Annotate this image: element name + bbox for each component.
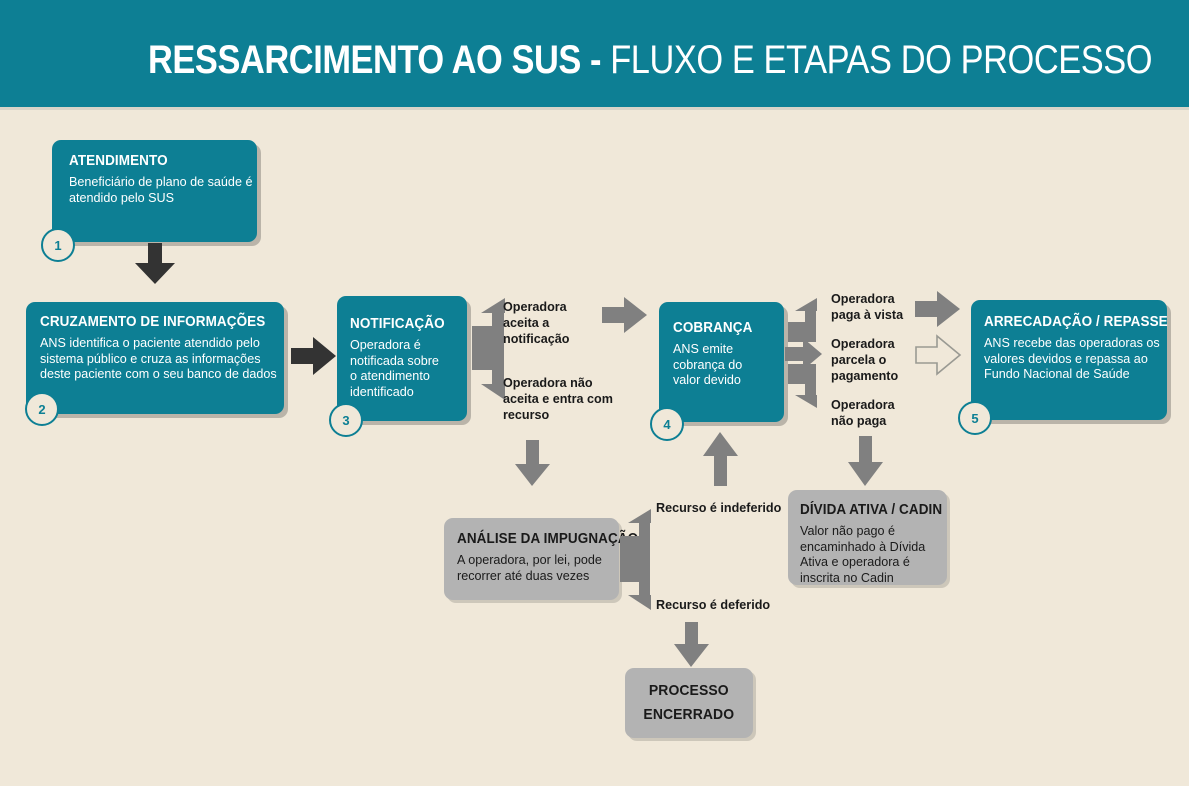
divida-body: Valor não pago é encaminhado à Dívida At… [800,524,947,586]
page-title: RESSARCIMENTO AO SUS - FLUXO E ETAPAS DO… [148,38,1152,82]
step-badge-4: 4 [650,407,684,441]
analise-body-line: recorrer até duas vezes [457,569,619,585]
step-badge-2: 2 [25,392,59,426]
step-3-body-line: notificada sobre [350,354,467,370]
step-4-title: COBRANÇA [673,320,776,337]
divida-title: DÍVIDA ATIVA / CADIN [800,502,937,519]
step-4-body: ANS emite cobrança do valor devido [673,342,784,389]
end-card-processo-encerrado[interactable]: PROCESSO ENCERRADO [625,668,753,738]
step-4-body-line: ANS emite [673,342,784,358]
step-3-body-line: o atendimento [350,369,467,385]
arrow-deferido-to-encerrado [672,622,712,668]
step-2-body-line: ANS identifica o paciente atendido pelo [40,336,284,352]
arrow-aceita-to-cobranca [602,296,650,334]
arrow-cobranca-branch-down [785,362,825,408]
page-title-light: FLUXO E ETAPAS DO PROCESSO [601,38,1152,82]
page-header: RESSARCIMENTO AO SUS - FLUXO E ETAPAS DO… [0,0,1189,110]
divida-body-line: Valor não pago é [800,524,947,540]
analise-body-line: A operadora, por lei, pode [457,553,619,569]
step-1-title: ATENDIMENTO [69,153,244,170]
arrow-naopaga-to-divida [846,436,886,488]
page-title-bold: RESSARCIMENTO AO SUS - [148,38,601,82]
step-badge-1: 1 [41,228,75,262]
step-5-title: ARRECADAÇÃO / REPASSE [984,314,1154,331]
label-parcela-pagamento: Operadora parcela o pagamento [831,336,898,384]
step-5-body-line: Fundo Nacional de Saúde [984,367,1167,383]
arrow-indeferido-to-cobranca [701,432,741,487]
end-card-line1: PROCESSO [649,682,729,699]
step-card-notificacao[interactable]: NOTIFICAÇÃO Operadora é notificada sobre… [337,296,467,421]
step-card-cobranca[interactable]: COBRANÇA ANS emite cobrança do valor dev… [659,302,784,422]
step-5-body: ANS recebe das operadoras os valores dev… [984,336,1167,383]
analise-title: ANÁLISE DA IMPUGNAÇÃO [457,531,608,548]
analise-body: A operadora, por lei, pode recorrer até … [457,553,619,584]
step-1-body: Beneficiário de plano de saúde é atendid… [69,175,257,206]
step-2-title: CRUZAMENTO DE INFORMAÇÕES [40,314,267,331]
step-2-body-line: sistema público e cruza as informações [40,352,284,368]
arrow-parcela-to-arrecadacao-outline [915,334,963,376]
step-4-body-line: cobrança do [673,358,784,374]
end-card-text: PROCESSO ENCERRADO [644,679,735,727]
step-3-body-line: Operadora é [350,338,467,354]
infographic-canvas: RESSARCIMENTO AO SUS - FLUXO E ETAPAS DO… [0,0,1189,786]
divida-body-line: encaminhado à Dívida [800,540,947,556]
divida-body-line: Ativa e operadora é [800,555,947,571]
arrow-cruzamento-to-notificacao [291,335,339,377]
step-3-body-line: identificado [350,385,467,401]
label-operadora-nao-aceita: Operadora não aceita e entra com recurso [503,375,613,423]
step-badge-3: 3 [329,403,363,437]
step-3-body: Operadora é notificada sobre o atendimen… [350,338,467,400]
step-card-arrecadacao[interactable]: ARRECADAÇÃO / REPASSE ANS recebe das ope… [971,300,1167,420]
label-operadora-aceita: Operadora aceita a notificação [503,299,569,347]
label-recurso-indeferido: Recurso é indeferido [656,500,781,516]
label-paga-a-vista: Operadora paga à vista [831,291,903,323]
gray-card-analise-impugnacao[interactable]: ANÁLISE DA IMPUGNAÇÃO A operadora, por l… [444,518,619,600]
divida-body-line: inscrita no Cadin [800,571,947,587]
step-4-body-line: valor devido [673,373,784,389]
end-card-line2: ENCERRADO [644,706,735,723]
step-5-body-line: valores devidos e repassa ao [984,352,1167,368]
step-badge-5: 5 [958,401,992,435]
step-1-body-line: atendido pelo SUS [69,191,257,207]
arrow-recurso-to-analise [513,440,553,488]
arrow-atendimento-to-cruzamento [131,243,179,285]
step-2-body: ANS identifica o paciente atendido pelo … [40,336,284,383]
label-nao-paga: Operadora não paga [831,397,895,429]
gray-card-divida-ativa[interactable]: DÍVIDA ATIVA / CADIN Valor não pago é en… [788,490,947,585]
step-1-body-line: Beneficiário de plano de saúde é [69,175,257,191]
step-5-body-line: ANS recebe das operadoras os [984,336,1167,352]
step-card-cruzamento[interactable]: CRUZAMENTO DE INFORMAÇÕES ANS identifica… [26,302,284,414]
step-2-body-line: deste paciente com o seu banco de dados [40,367,284,383]
step-3-title: NOTIFICAÇÃO [350,316,459,333]
arrow-avista-to-arrecadacao [915,290,963,328]
step-card-atendimento[interactable]: ATENDIMENTO Beneficiário de plano de saú… [52,140,257,242]
label-recurso-deferido: Recurso é deferido [656,597,770,613]
